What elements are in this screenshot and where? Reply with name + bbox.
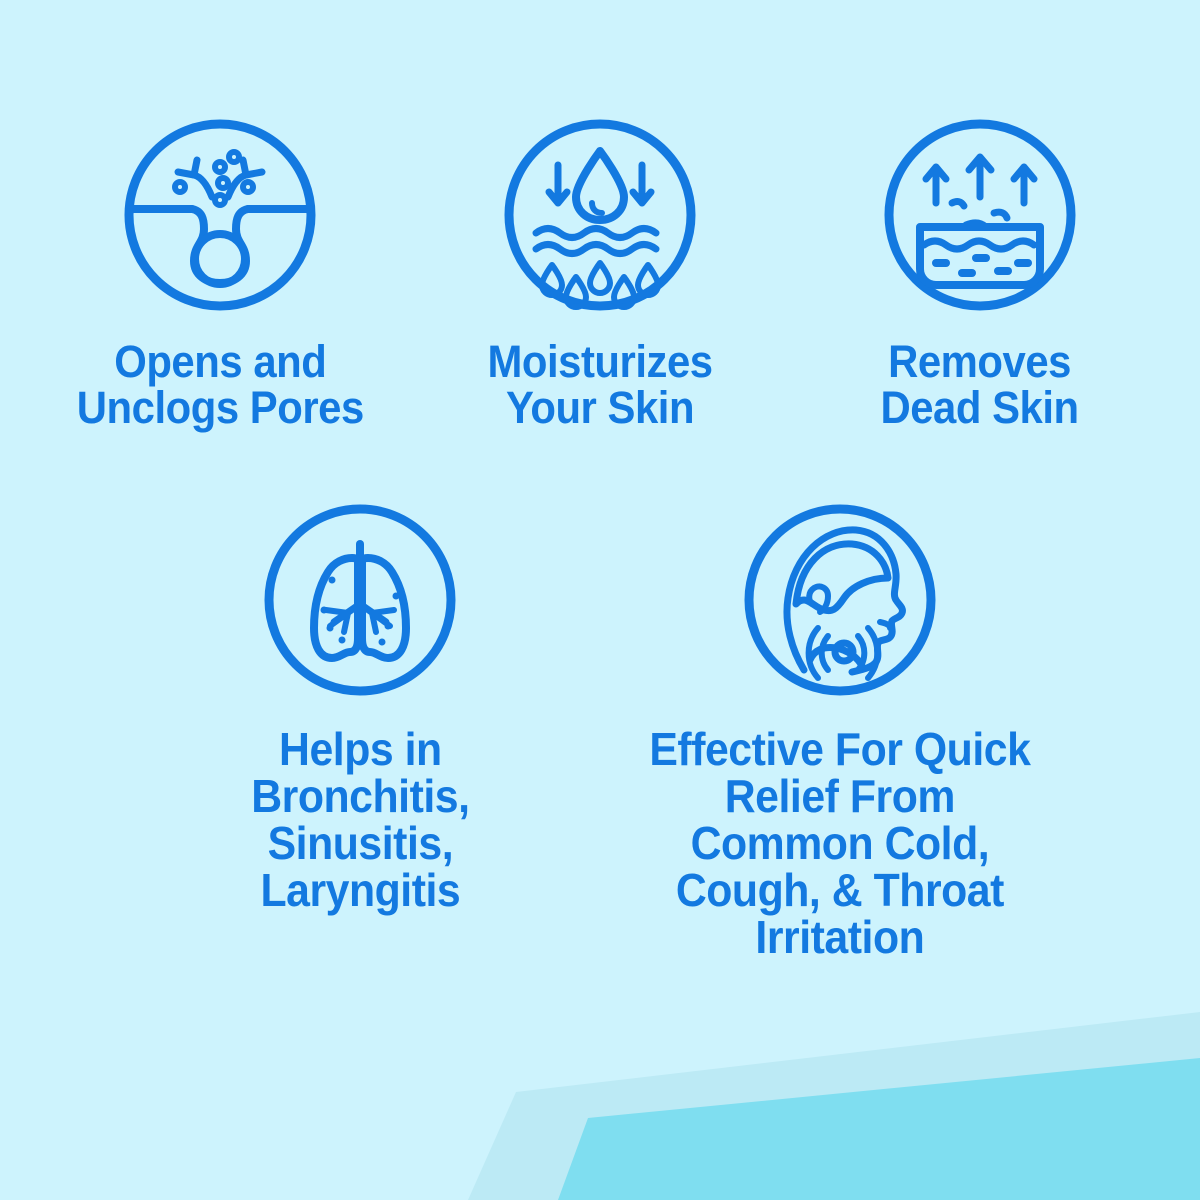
feature-label: Removes Dead Skin bbox=[881, 339, 1079, 431]
corner-shape-light bbox=[468, 1012, 1200, 1200]
infographic-poster: Opens and Unclogs Pores bbox=[0, 0, 1200, 1200]
exfoliating-skin-flakes-icon bbox=[880, 115, 1080, 315]
water-droplet-skin-layers-icon bbox=[500, 115, 700, 315]
feature-effective-quick-relief[interactable]: Effective For Quick Relief From Common C… bbox=[600, 500, 1080, 961]
feature-opens-unclogs-pores[interactable]: Opens and Unclogs Pores bbox=[30, 115, 410, 431]
feature-label: Helps in Bronchitis, Sinusitis, Laryngit… bbox=[251, 726, 469, 914]
sore-throat-head-profile-icon bbox=[740, 500, 940, 700]
corner-shape-accent bbox=[558, 1058, 1200, 1200]
feature-helps-in-bronchitis[interactable]: Helps in Bronchitis, Sinusitis, Laryngit… bbox=[120, 500, 600, 914]
feature-row-top: Opens and Unclogs Pores bbox=[0, 115, 1200, 431]
feature-label: Effective For Quick Relief From Common C… bbox=[649, 726, 1030, 961]
lungs-icon bbox=[260, 500, 460, 700]
feature-label: Moisturizes Your Skin bbox=[487, 339, 712, 431]
feature-label: Opens and Unclogs Pores bbox=[77, 339, 364, 431]
open-pore-icon bbox=[120, 115, 320, 315]
feature-moisturizes-your-skin[interactable]: Moisturizes Your Skin bbox=[410, 115, 790, 431]
feature-row-bottom: Helps in Bronchitis, Sinusitis, Laryngit… bbox=[0, 500, 1200, 961]
feature-removes-dead-skin[interactable]: Removes Dead Skin bbox=[790, 115, 1170, 431]
